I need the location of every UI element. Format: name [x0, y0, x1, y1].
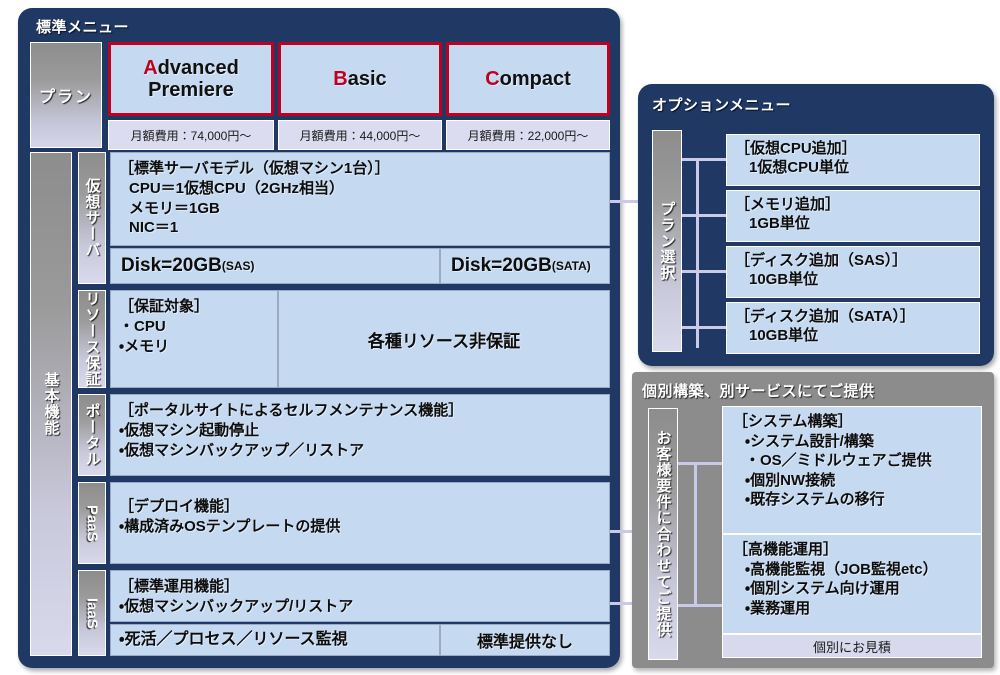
- plan-initial: A: [143, 57, 157, 79]
- custom-line-4: ・既存システムの移行: [733, 490, 971, 510]
- spec-line-cpu: CPU＝1仮想CPU（2GHz相当）: [119, 179, 601, 199]
- disk-sas-note: (SAS): [222, 259, 255, 273]
- iaas-line-1: ・仮想マシンバックアップ/リストア: [119, 597, 601, 617]
- custom-block-title: ［高機能運用］: [733, 541, 838, 558]
- custom-side-label-text: お客様要件に合わせてご提供: [653, 430, 674, 638]
- option-item-title: ［仮想CPU追加］: [735, 140, 857, 157]
- plan-name-rest: ompact: [500, 68, 571, 90]
- custom-trunk-line: [694, 462, 697, 606]
- virtual-server-spec-cell: ［標準サーバモデル（仮想マシン1台）］ CPU＝1仮想CPU（2GHz相当） メ…: [110, 152, 610, 246]
- portal-cell: ［ポータルサイトによるセルフメンテナンス機能］ ・仮想マシン起動停止 ・仮想マシ…: [110, 394, 610, 476]
- row-label-text: ポータル: [82, 403, 103, 467]
- iaas-cell: ［標準運用機能］ ・仮想マシンバックアップ/リストア: [110, 570, 610, 622]
- disk-sata-note: (SATA): [552, 259, 591, 273]
- paas-cell: ［デプロイ機能］ ・構成済みOSテンプレートの提供: [110, 482, 610, 564]
- disk-sas-cell: Disk=20GB(SAS): [110, 248, 440, 284]
- plan-column-basic[interactable]: Basic 月額費用：44,000円～: [278, 42, 442, 148]
- standard-menu-title: 標準メニュー: [36, 16, 129, 37]
- plan-initial: C: [485, 68, 499, 90]
- resource-title: ［保証対象］: [119, 297, 269, 317]
- resource-guarantee-cell: ［保証対象］ ・CPU ・メモリ: [110, 290, 278, 388]
- plan-name-advanced: Advanced Premiere: [108, 42, 274, 116]
- option-item-detail: 1仮想CPU単位: [735, 158, 971, 177]
- custom-line-3: ・業務運用: [733, 599, 971, 619]
- row-label-text: PaaS: [84, 505, 101, 542]
- disk-sata-cell: Disk=20GB(SATA): [440, 248, 610, 284]
- plan-name-compact: Compact: [446, 42, 610, 116]
- plan-fee-advanced: 月額費用：74,000円～: [108, 120, 274, 150]
- option-branch-2: [682, 214, 726, 217]
- custom-branch-1: [678, 462, 724, 465]
- plan-column-compact[interactable]: Compact 月額費用：22,000円～: [446, 42, 610, 148]
- option-item-detail: 10GB単位: [735, 270, 971, 289]
- group-label-basic-functions: 基本機能: [30, 152, 72, 656]
- option-item-memory[interactable]: ［メモリ追加］ 1GB単位: [726, 190, 980, 242]
- custom-line-1: ・高機能監視（JOB監視etc）: [733, 560, 971, 580]
- row-label-resource-guarantee: リソース保証: [78, 290, 106, 388]
- custom-line-1: ・システム設計/構築: [733, 432, 971, 452]
- custom-branch-2: [678, 604, 724, 607]
- custom-line-3: ・個別NW接続: [733, 471, 971, 491]
- custom-block-advanced-ops[interactable]: ［高機能運用］ ・高機能監視（JOB監視etc） ・個別システム向け運用 ・業務…: [722, 534, 982, 634]
- portal-title: ［ポータルサイトによるセルフメンテナンス機能］: [119, 401, 601, 421]
- iaas-monitor-none-cell: 標準提供なし: [440, 624, 610, 656]
- row-label-portal: ポータル: [78, 394, 106, 476]
- portal-line-1: ・仮想マシン起動停止: [119, 421, 601, 441]
- resource-none-cell: 各種リソース非保証: [278, 290, 610, 388]
- option-branch-3: [682, 270, 726, 273]
- plan-name-basic: Basic: [278, 42, 442, 116]
- row-label-iaas: IaaS: [78, 570, 106, 656]
- plan-fee-basic: 月額費用：44,000円～: [278, 120, 442, 150]
- option-branch-4: [682, 326, 726, 329]
- paas-title: ［デプロイ機能］: [119, 497, 601, 517]
- custom-line-2: ・個別システム向け運用: [733, 579, 971, 599]
- custom-block-system-build[interactable]: ［システム構築］ ・システム設計/構築 ・OS／ミドルウェアご提供 ・個別NW接…: [722, 406, 982, 534]
- row-label-virtual-server: 仮想サーバ: [78, 152, 106, 284]
- iaas-title: ［標準運用機能］: [119, 577, 601, 597]
- plan-initial: B: [333, 68, 347, 90]
- spec-title: ［標準サーバモデル（仮想マシン1台）］: [119, 159, 601, 179]
- option-side-label-text: プラン選択: [657, 201, 678, 281]
- portal-line-2: ・仮想マシンバックアップ／リストア: [119, 441, 601, 461]
- option-item-title: ［ディスク追加（SATA）］: [735, 308, 915, 325]
- plan-name-rest: dvanced: [158, 57, 239, 79]
- row-label-text: リソース保証: [82, 291, 103, 387]
- option-item-title: ［メモリ追加］: [735, 196, 840, 213]
- spec-line-memory: メモリ＝1GB: [119, 199, 601, 219]
- option-branch-1: [682, 158, 726, 161]
- option-item-title: ［ディスク追加（SAS）］: [735, 252, 907, 269]
- group-label-text: 基本機能: [41, 372, 62, 436]
- spec-line-nic: NIC＝1: [119, 218, 601, 238]
- row-label-paas: PaaS: [78, 482, 106, 564]
- row-label-text: 仮想サーバ: [82, 178, 103, 258]
- custom-block-title: ［システム構築］: [733, 413, 853, 430]
- option-item-detail: 1GB単位: [735, 214, 971, 233]
- option-menu-title: オプションメニュー: [652, 94, 791, 115]
- custom-line-2: ・OS／ミドルウェアご提供: [733, 451, 971, 471]
- plan-fee-compact: 月額費用：22,000円～: [446, 120, 610, 150]
- disk-sata-value: Disk=20GB: [451, 255, 552, 277]
- option-item-detail: 10GB単位: [735, 326, 971, 345]
- disk-sas-value: Disk=20GB: [121, 255, 222, 277]
- plan-header-cell: プラン: [30, 42, 102, 148]
- resource-line-memory: ・メモリ: [119, 337, 269, 357]
- custom-service-title: 個別構築、別サービスにてご提供: [642, 380, 875, 401]
- custom-quote-bar: 個別にお見積: [722, 634, 982, 658]
- option-side-label: プラン選択: [652, 130, 682, 352]
- paas-line-1: ・構成済みOSテンプレートの提供: [119, 517, 601, 537]
- plan-name-line2: Premiere: [148, 79, 234, 101]
- option-item-cpu[interactable]: ［仮想CPU追加］ 1仮想CPU単位: [726, 134, 980, 186]
- resource-line-cpu: ・CPU: [119, 317, 269, 337]
- plan-column-advanced[interactable]: Advanced Premiere 月額費用：74,000円～: [108, 42, 274, 148]
- option-item-disk-sas[interactable]: ［ディスク追加（SAS）］ 10GB単位: [726, 246, 980, 298]
- plan-name-rest: asic: [348, 68, 387, 90]
- option-item-disk-sata[interactable]: ［ディスク追加（SATA）］ 10GB単位: [726, 302, 980, 354]
- custom-side-label: お客様要件に合わせてご提供: [648, 408, 678, 660]
- option-trunk-line: [696, 158, 699, 348]
- iaas-monitor-cell: ・死活／プロセス／リソース監視: [110, 624, 440, 656]
- row-label-text: IaaS: [84, 598, 101, 629]
